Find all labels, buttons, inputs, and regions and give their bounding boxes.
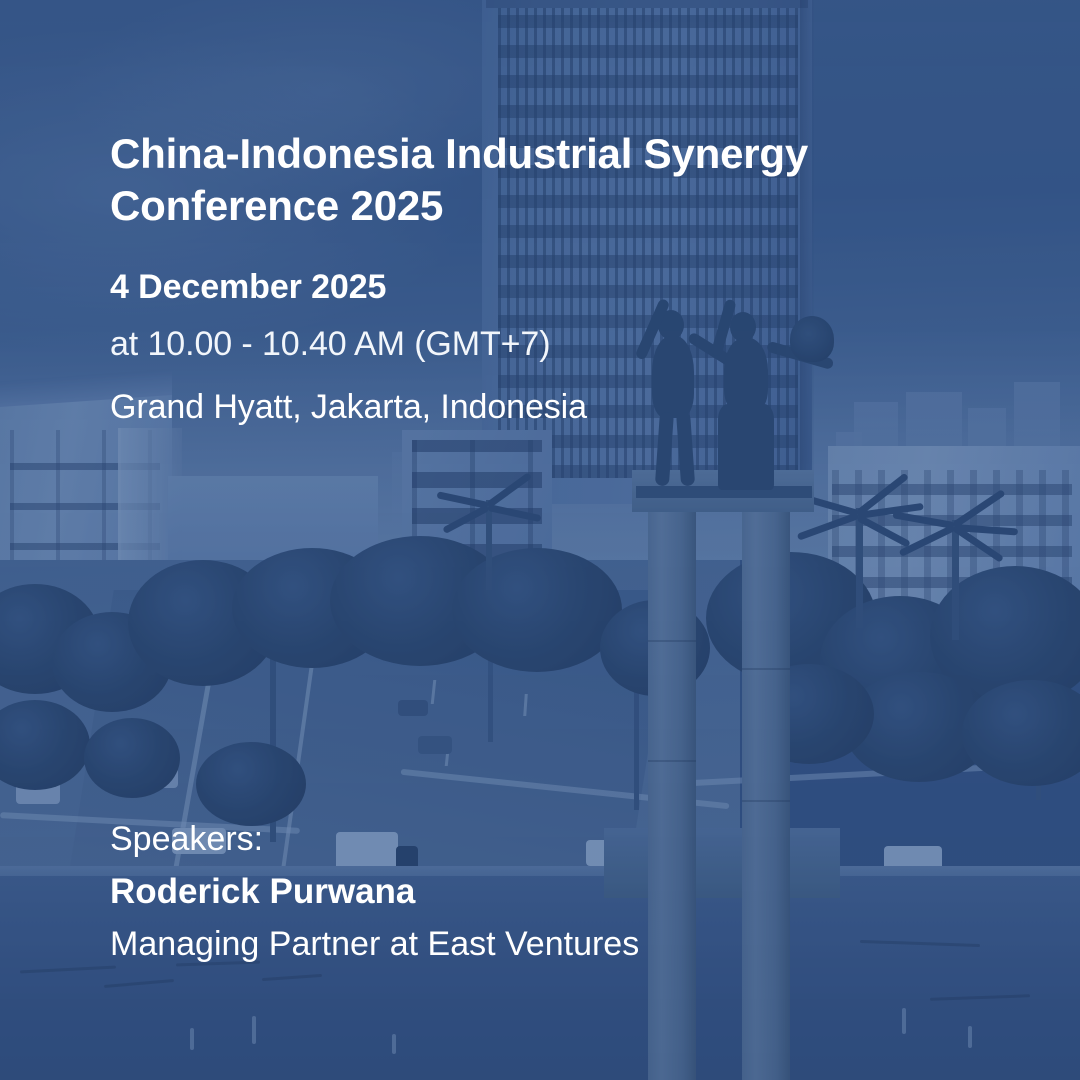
content-layer: China-Indonesia Industrial Synergy Confe… <box>0 0 1080 1080</box>
speakers-label: Speakers: <box>110 820 263 859</box>
event-venue: Grand Hyatt, Jakarta, Indonesia <box>110 388 587 427</box>
title-line-1: China-Indonesia Industrial Synergy <box>110 128 950 180</box>
title-line-2: Conference 2025 <box>110 180 950 232</box>
speaker-role: Managing Partner at East Ventures <box>110 925 639 964</box>
speaker-name: Roderick Purwana <box>110 872 415 912</box>
event-date: 4 December 2025 <box>110 268 386 307</box>
event-announcement-card: China-Indonesia Industrial Synergy Confe… <box>0 0 1080 1080</box>
page-title: China-Indonesia Industrial Synergy Confe… <box>110 128 950 231</box>
event-time: at 10.00 - 10.40 AM (GMT+7) <box>110 325 550 364</box>
